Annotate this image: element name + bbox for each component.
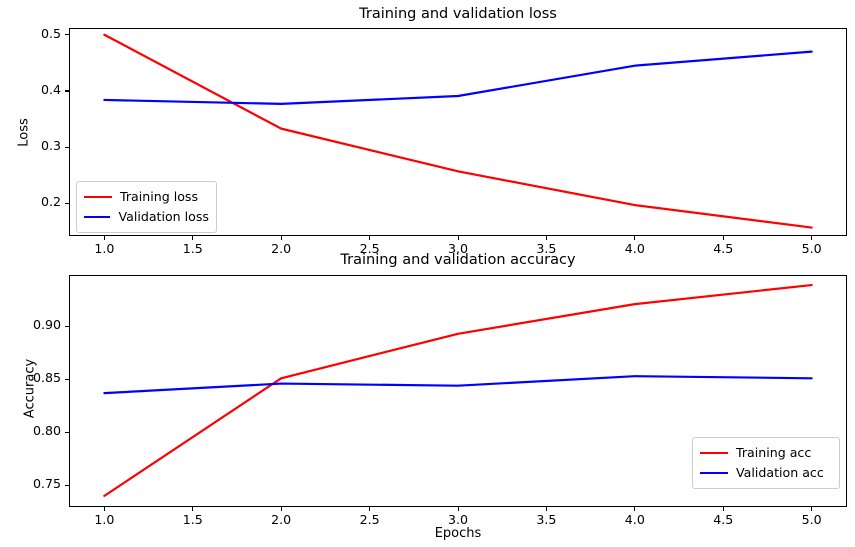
y-tick-label: 0.85 bbox=[7, 370, 61, 385]
y-tick-mark bbox=[65, 485, 69, 486]
matplotlib-figure: Training and validation loss Loss 0.20.3… bbox=[0, 0, 855, 547]
legend-item[interactable]: Training acc bbox=[700, 443, 832, 463]
x-tick-mark bbox=[546, 507, 547, 511]
y-tick-mark bbox=[65, 432, 69, 433]
accuracy-legend[interactable]: Training accValidation acc bbox=[692, 437, 840, 489]
y-tick-label: 0.80 bbox=[7, 423, 61, 438]
legend-line-swatch bbox=[700, 472, 728, 474]
x-tick-mark bbox=[634, 507, 635, 511]
x-tick-label: 1.0 bbox=[79, 512, 129, 527]
x-tick-mark bbox=[723, 507, 724, 511]
x-tick-label: 3.5 bbox=[521, 512, 571, 527]
x-tick-label: 3.0 bbox=[433, 512, 483, 527]
x-tick-mark bbox=[458, 507, 459, 511]
legend-label: Validation acc bbox=[736, 463, 824, 483]
series-line-1 bbox=[104, 376, 811, 393]
x-tick-label: 1.5 bbox=[168, 512, 218, 527]
legend-item[interactable]: Validation acc bbox=[700, 463, 832, 483]
legend-line-swatch bbox=[700, 452, 728, 454]
y-tick-label: 0.75 bbox=[7, 476, 61, 491]
legend-label: Training acc bbox=[736, 443, 811, 463]
x-tick-label: 2.0 bbox=[256, 512, 306, 527]
y-tick-mark bbox=[65, 326, 69, 327]
y-tick-mark bbox=[65, 379, 69, 380]
x-tick-mark bbox=[811, 507, 812, 511]
x-tick-mark bbox=[281, 507, 282, 511]
x-tick-label: 4.0 bbox=[610, 512, 660, 527]
x-tick-mark bbox=[369, 507, 370, 511]
x-tick-mark bbox=[192, 507, 193, 511]
y-tick-label: 0.90 bbox=[7, 317, 61, 332]
x-tick-label: 2.5 bbox=[345, 512, 395, 527]
x-tick-mark bbox=[104, 507, 105, 511]
x-tick-label: 5.0 bbox=[787, 512, 837, 527]
x-tick-label: 4.5 bbox=[698, 512, 748, 527]
